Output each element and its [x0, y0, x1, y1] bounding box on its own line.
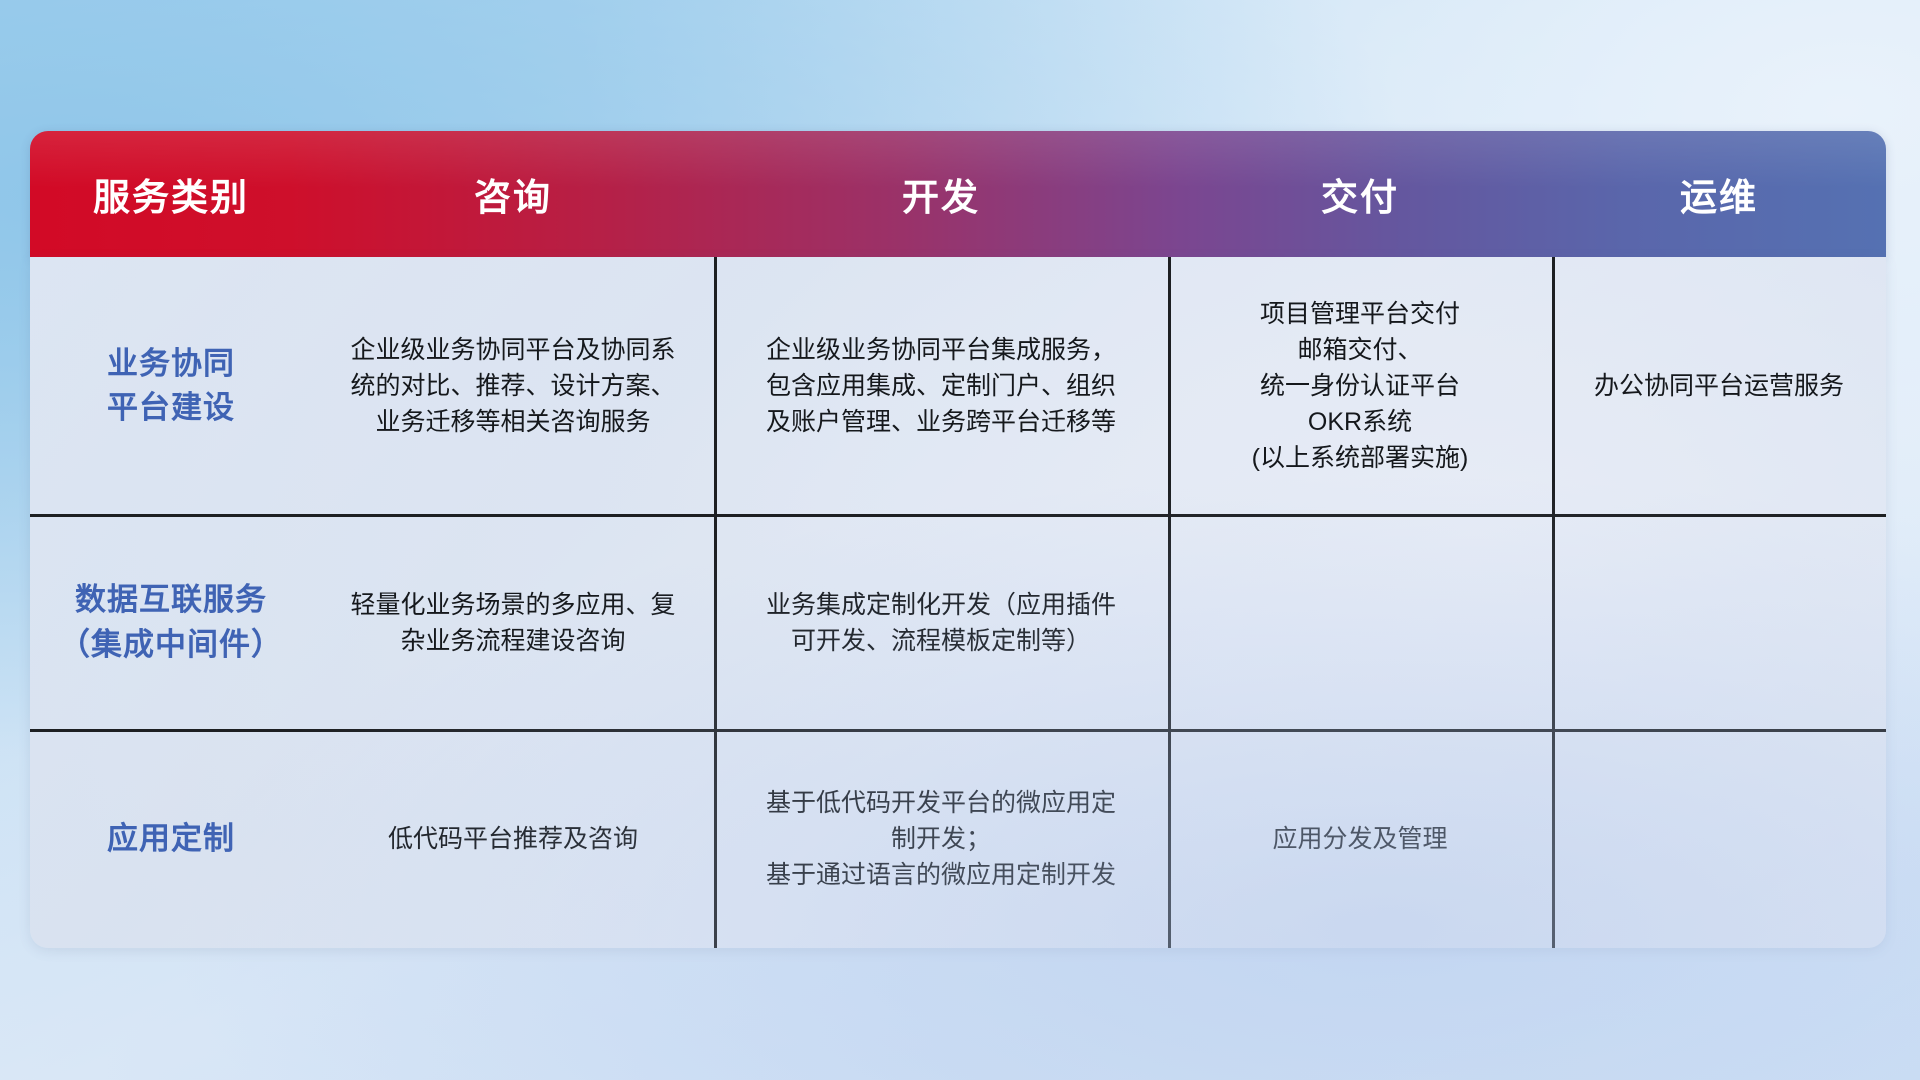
cell-development-2: 业务集成定制化开发（应用插件 可开发、流程模板定制等）: [714, 515, 1168, 730]
cell-category-1: 业务协同 平台建设: [30, 257, 312, 515]
table-row: 数据互联服务 （集成中间件） 轻量化业务场景的多应用、复 杂业务流程建设咨询 业…: [30, 515, 1886, 730]
cell-development-3: 基于低代码开发平台的微应用定 制开发； 基于通过语言的微应用定制开发: [714, 730, 1168, 948]
column-header-operations: 运维: [1552, 131, 1886, 257]
column-header-delivery: 交付: [1168, 131, 1552, 257]
column-header-consulting: 咨询: [312, 131, 714, 257]
column-header-category: 服务类别: [30, 131, 312, 257]
cell-category-3: 应用定制: [30, 730, 312, 948]
table-row: 应用定制 低代码平台推荐及咨询 基于低代码开发平台的微应用定 制开发； 基于通过…: [30, 730, 1886, 948]
cell-delivery-2: [1168, 515, 1552, 730]
table-row: 业务协同 平台建设 企业级业务协同平台及协同系 统的对比、推荐、设计方案、 业务…: [30, 257, 1886, 515]
cell-operations-1: 办公协同平台运营服务: [1552, 257, 1886, 515]
cell-consulting-1: 企业级业务协同平台及协同系 统的对比、推荐、设计方案、 业务迁移等相关咨询服务: [312, 257, 714, 515]
slide-canvas: 服务类别 咨询 开发 交付 运维 业务协同 平台建设 企业级业务协同平台及协同系…: [0, 0, 1920, 1080]
cell-category-2: 数据互联服务 （集成中间件）: [30, 515, 312, 730]
service-matrix-table: 服务类别 咨询 开发 交付 运维 业务协同 平台建设 企业级业务协同平台及协同系…: [30, 131, 1886, 948]
cell-consulting-3: 低代码平台推荐及咨询: [312, 730, 714, 948]
cell-operations-2: [1552, 515, 1886, 730]
cell-consulting-2: 轻量化业务场景的多应用、复 杂业务流程建设咨询: [312, 515, 714, 730]
cell-operations-3: [1552, 730, 1886, 948]
column-header-development: 开发: [714, 131, 1168, 257]
cell-delivery-3: 应用分发及管理: [1168, 730, 1552, 948]
table-header-row: 服务类别 咨询 开发 交付 运维: [30, 131, 1886, 257]
cell-delivery-1: 项目管理平台交付 邮箱交付、 统一身份认证平台 OKR系统 (以上系统部署实施): [1168, 257, 1552, 515]
cell-development-1: 企业级业务协同平台集成服务， 包含应用集成、定制门户、组织 及账户管理、业务跨平…: [714, 257, 1168, 515]
